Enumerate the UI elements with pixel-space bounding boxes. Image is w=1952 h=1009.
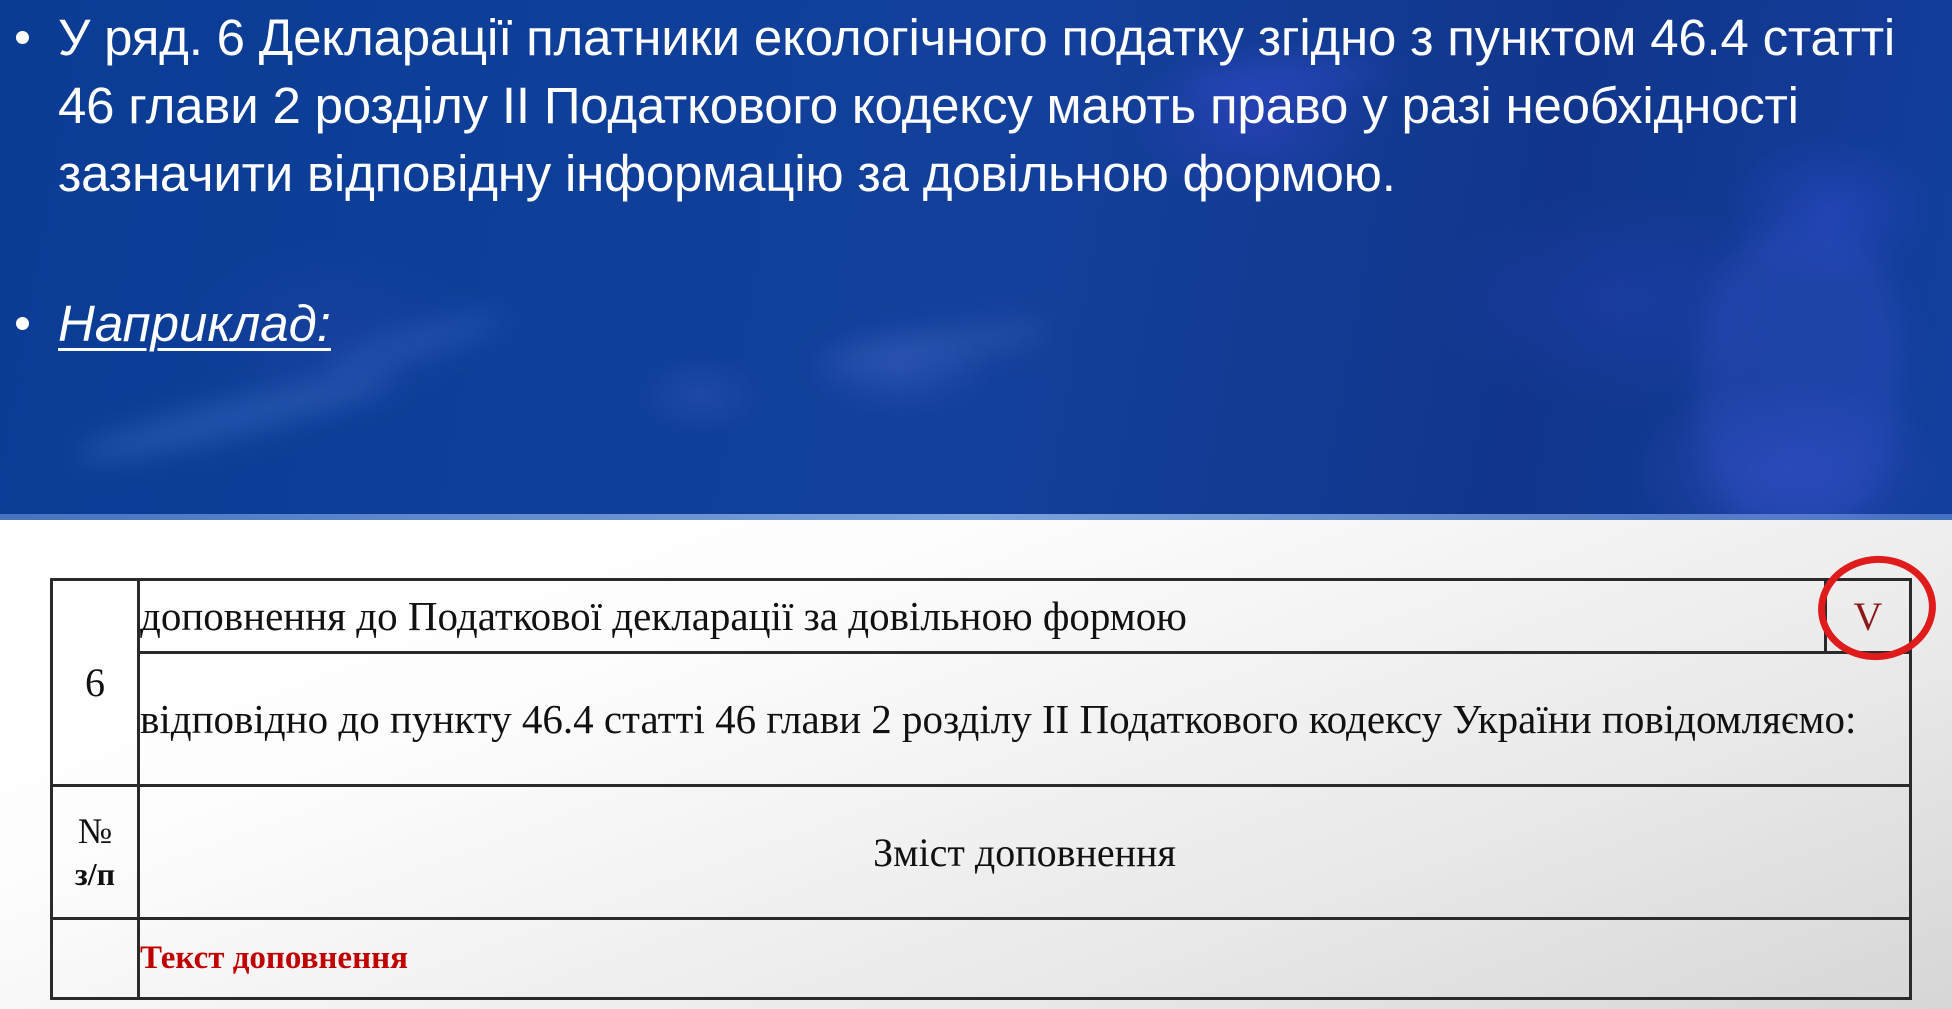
blue-header-panel: У ряд. 6 Декларації платники екологічног… xyxy=(0,0,1952,520)
declaration-table: 6 доповнення до Податкової декларації за… xyxy=(50,578,1912,1000)
background-streak xyxy=(71,361,399,474)
bullet-text-block: У ряд. 6 Декларації платники екологічног… xyxy=(0,0,1952,358)
table-row-addition-title: 6 доповнення до Податкової декларації за… xyxy=(52,580,1911,653)
column-header-number-line1: № xyxy=(78,811,112,851)
column-header-number-cell: № з/п xyxy=(52,786,139,919)
slide-canvas: У ряд. 6 Декларації платники екологічног… xyxy=(0,0,1952,1009)
bullet-list: У ряд. 6 Декларації платники екологічног… xyxy=(0,4,1952,358)
legal-reference-cell: відповідно до пункту 46.4 статті 46 глав… xyxy=(139,653,1911,786)
column-header-content-cell: Зміст доповнення xyxy=(139,786,1911,919)
bullet-example-text: Наприклад: xyxy=(58,295,331,352)
bullet-item-example: Наприклад: xyxy=(0,290,1952,358)
content-row-text-cell[interactable]: Текст доповнення xyxy=(139,919,1911,999)
bullet-item-rule: У ряд. 6 Декларації платники екологічног… xyxy=(0,4,1952,208)
addition-title-cell: доповнення до Податкової декларації за д… xyxy=(139,580,1826,653)
column-header-number-line2: з/п xyxy=(75,856,115,892)
addition-checkbox-cell[interactable]: V xyxy=(1826,580,1911,653)
table-row-column-headers: № з/п Зміст доповнення xyxy=(52,786,1911,919)
table-row-legal-reference: відповідно до пункту 46.4 статті 46 глав… xyxy=(52,653,1911,786)
content-row-number-cell[interactable] xyxy=(52,919,139,999)
bullet-rule-text: У ряд. 6 Декларації платники екологічног… xyxy=(58,9,1895,202)
row-number-cell: 6 xyxy=(52,580,139,786)
declaration-table-wrapper: 6 доповнення до Податкової декларації за… xyxy=(50,578,1912,1000)
table-row-content: Текст доповнення xyxy=(52,919,1911,999)
